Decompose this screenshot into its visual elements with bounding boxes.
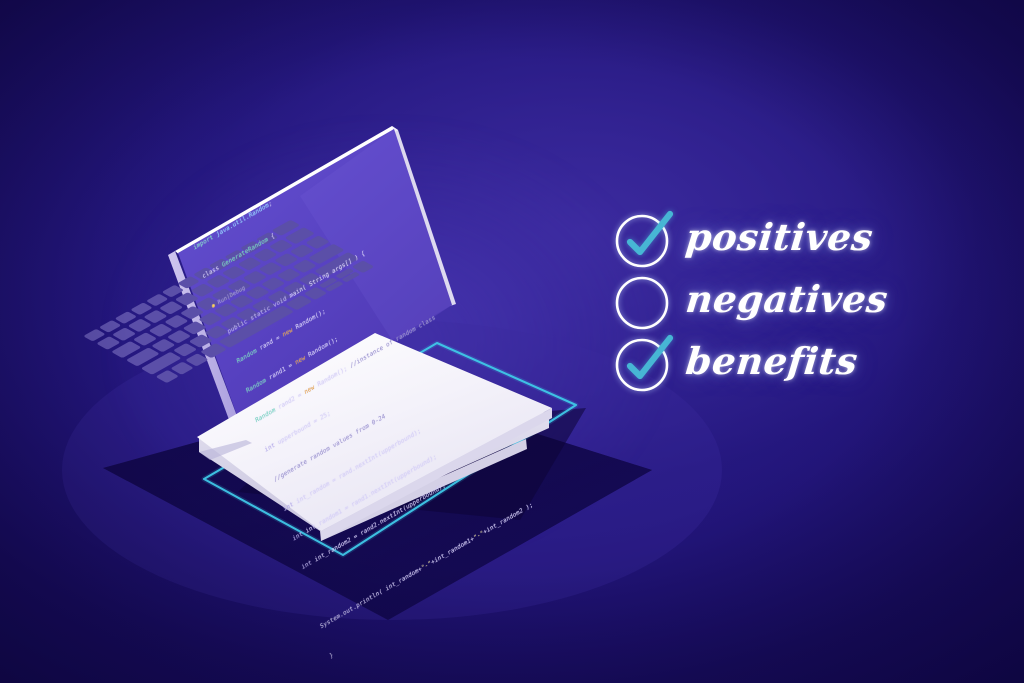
checklist-item-benefits[interactable]: benefits	[612, 330, 942, 392]
checklist-label: negatives	[684, 277, 890, 321]
checklist-label: benefits	[684, 339, 860, 383]
checklist-label: positives	[684, 215, 876, 259]
screenshot-canvas: import java.util.Random; class GenerateR…	[0, 0, 1024, 683]
checklist-item-positives[interactable]: positives	[612, 206, 942, 268]
check-circle-icon[interactable]	[612, 332, 670, 390]
checklist: positives negatives benefits	[612, 206, 942, 392]
empty-circle-icon[interactable]	[612, 270, 670, 328]
check-circle-icon[interactable]	[612, 208, 670, 266]
checklist-item-negatives[interactable]: negatives	[612, 268, 942, 330]
